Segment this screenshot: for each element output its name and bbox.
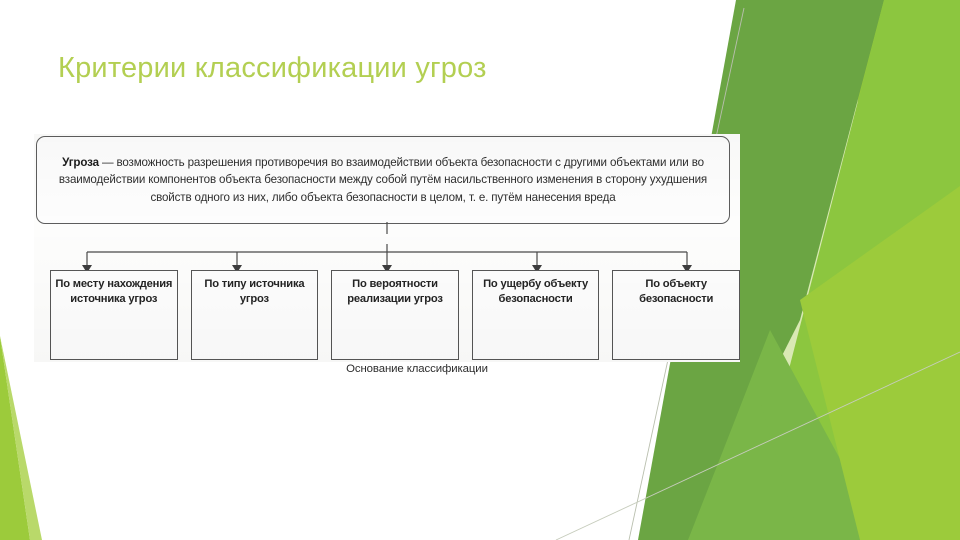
decor-shape-lime-column xyxy=(822,0,960,540)
category-box-type-of-threat-source: По типу источника угроз xyxy=(191,270,319,360)
category-box-security-object: По объекту безопасности xyxy=(612,270,740,360)
threat-definition-body: — возможность разрешения противоречия во… xyxy=(59,156,707,203)
category-label: По месту нахождения источника угроз xyxy=(51,277,177,306)
page-title: Критерии классификации угроз xyxy=(58,49,698,87)
category-boxes-row: По месту нахождения источника угроз По т… xyxy=(50,270,740,360)
decor-shape-pale-band xyxy=(742,0,960,540)
decor-shape-bright-wedge xyxy=(745,0,960,540)
connector-lines xyxy=(34,222,740,274)
category-label: По вероятности реализации угроз xyxy=(332,277,458,306)
classification-diagram: Угроза — возможность разрешения противор… xyxy=(34,134,740,362)
category-label: По типу источника угроз xyxy=(192,277,318,306)
threat-definition-term: Угроза xyxy=(62,156,99,169)
category-box-location-of-threat-source: По месту нахождения источника угроз xyxy=(50,270,178,360)
category-box-probability-of-realization: По вероятности реализации угроз xyxy=(331,270,459,360)
decor-hairline-lower xyxy=(556,352,960,540)
threat-definition-text: Угроза — возможность разрешения противор… xyxy=(58,154,708,206)
presentation-slide: Критерии классификации угроз Угроза — во… xyxy=(0,0,960,540)
category-box-damage-to-security-object: По ущербу объекту безопасности xyxy=(472,270,600,360)
decor-shape-bottom-band xyxy=(800,186,960,540)
category-label: По ущербу объекту безопасности xyxy=(473,277,599,306)
decor-shape-bottom-sliver xyxy=(700,400,800,540)
basis-of-classification-label: Основание классификации xyxy=(267,363,567,375)
decor-shape-left-sliver xyxy=(0,336,30,540)
category-label: По объекту безопасности xyxy=(613,277,739,306)
decor-shape-left-sliver-pale xyxy=(0,336,42,540)
threat-definition-box: Угроза — возможность разрешения противор… xyxy=(36,136,730,224)
